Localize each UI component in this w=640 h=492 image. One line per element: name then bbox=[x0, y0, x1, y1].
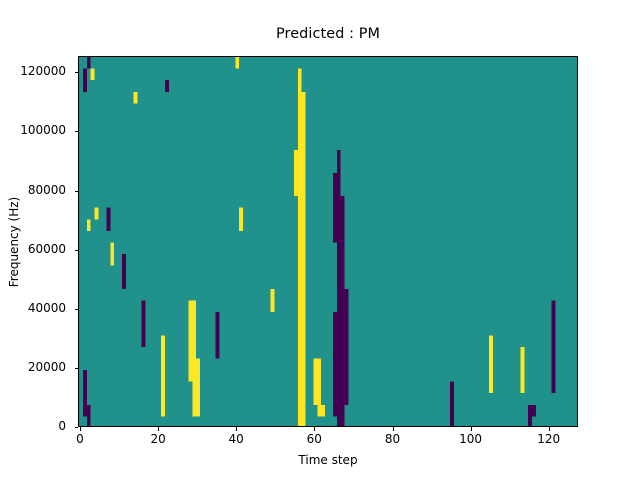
x-tick-mark bbox=[80, 427, 81, 431]
y-tick-mark bbox=[75, 191, 79, 192]
x-tick-mark bbox=[158, 427, 159, 431]
heatmap-canvas bbox=[79, 57, 578, 427]
x-tick-label: 40 bbox=[196, 432, 276, 446]
x-tick-label: 0 bbox=[40, 432, 120, 446]
page-title: Predicted : PM bbox=[78, 26, 578, 42]
x-tick-label: 100 bbox=[431, 432, 511, 446]
x-tick-mark bbox=[314, 427, 315, 431]
x-tick-mark bbox=[393, 427, 394, 431]
x-tick-mark bbox=[471, 427, 472, 431]
y-tick-mark bbox=[75, 131, 79, 132]
x-tick-label: 80 bbox=[353, 432, 433, 446]
matplotlib-figure: Predicted : PM 0200004000060000800001000… bbox=[0, 0, 640, 480]
y-tick-mark bbox=[75, 368, 79, 369]
x-tick-mark bbox=[549, 427, 550, 431]
y-tick-mark bbox=[75, 427, 79, 428]
heatmap-axes bbox=[78, 56, 578, 427]
spectrogram-heatmap bbox=[79, 57, 578, 427]
y-tick-mark bbox=[75, 72, 79, 73]
x-axis-label: Time step bbox=[78, 453, 578, 467]
x-tick-label: 60 bbox=[274, 432, 354, 446]
y-axis-label: Frequency (Hz) bbox=[7, 0, 21, 492]
x-tick-label: 20 bbox=[118, 432, 198, 446]
x-tick-mark bbox=[236, 427, 237, 431]
y-tick-mark bbox=[75, 250, 79, 251]
x-tick-label: 120 bbox=[509, 432, 589, 446]
y-tick-mark bbox=[75, 309, 79, 310]
